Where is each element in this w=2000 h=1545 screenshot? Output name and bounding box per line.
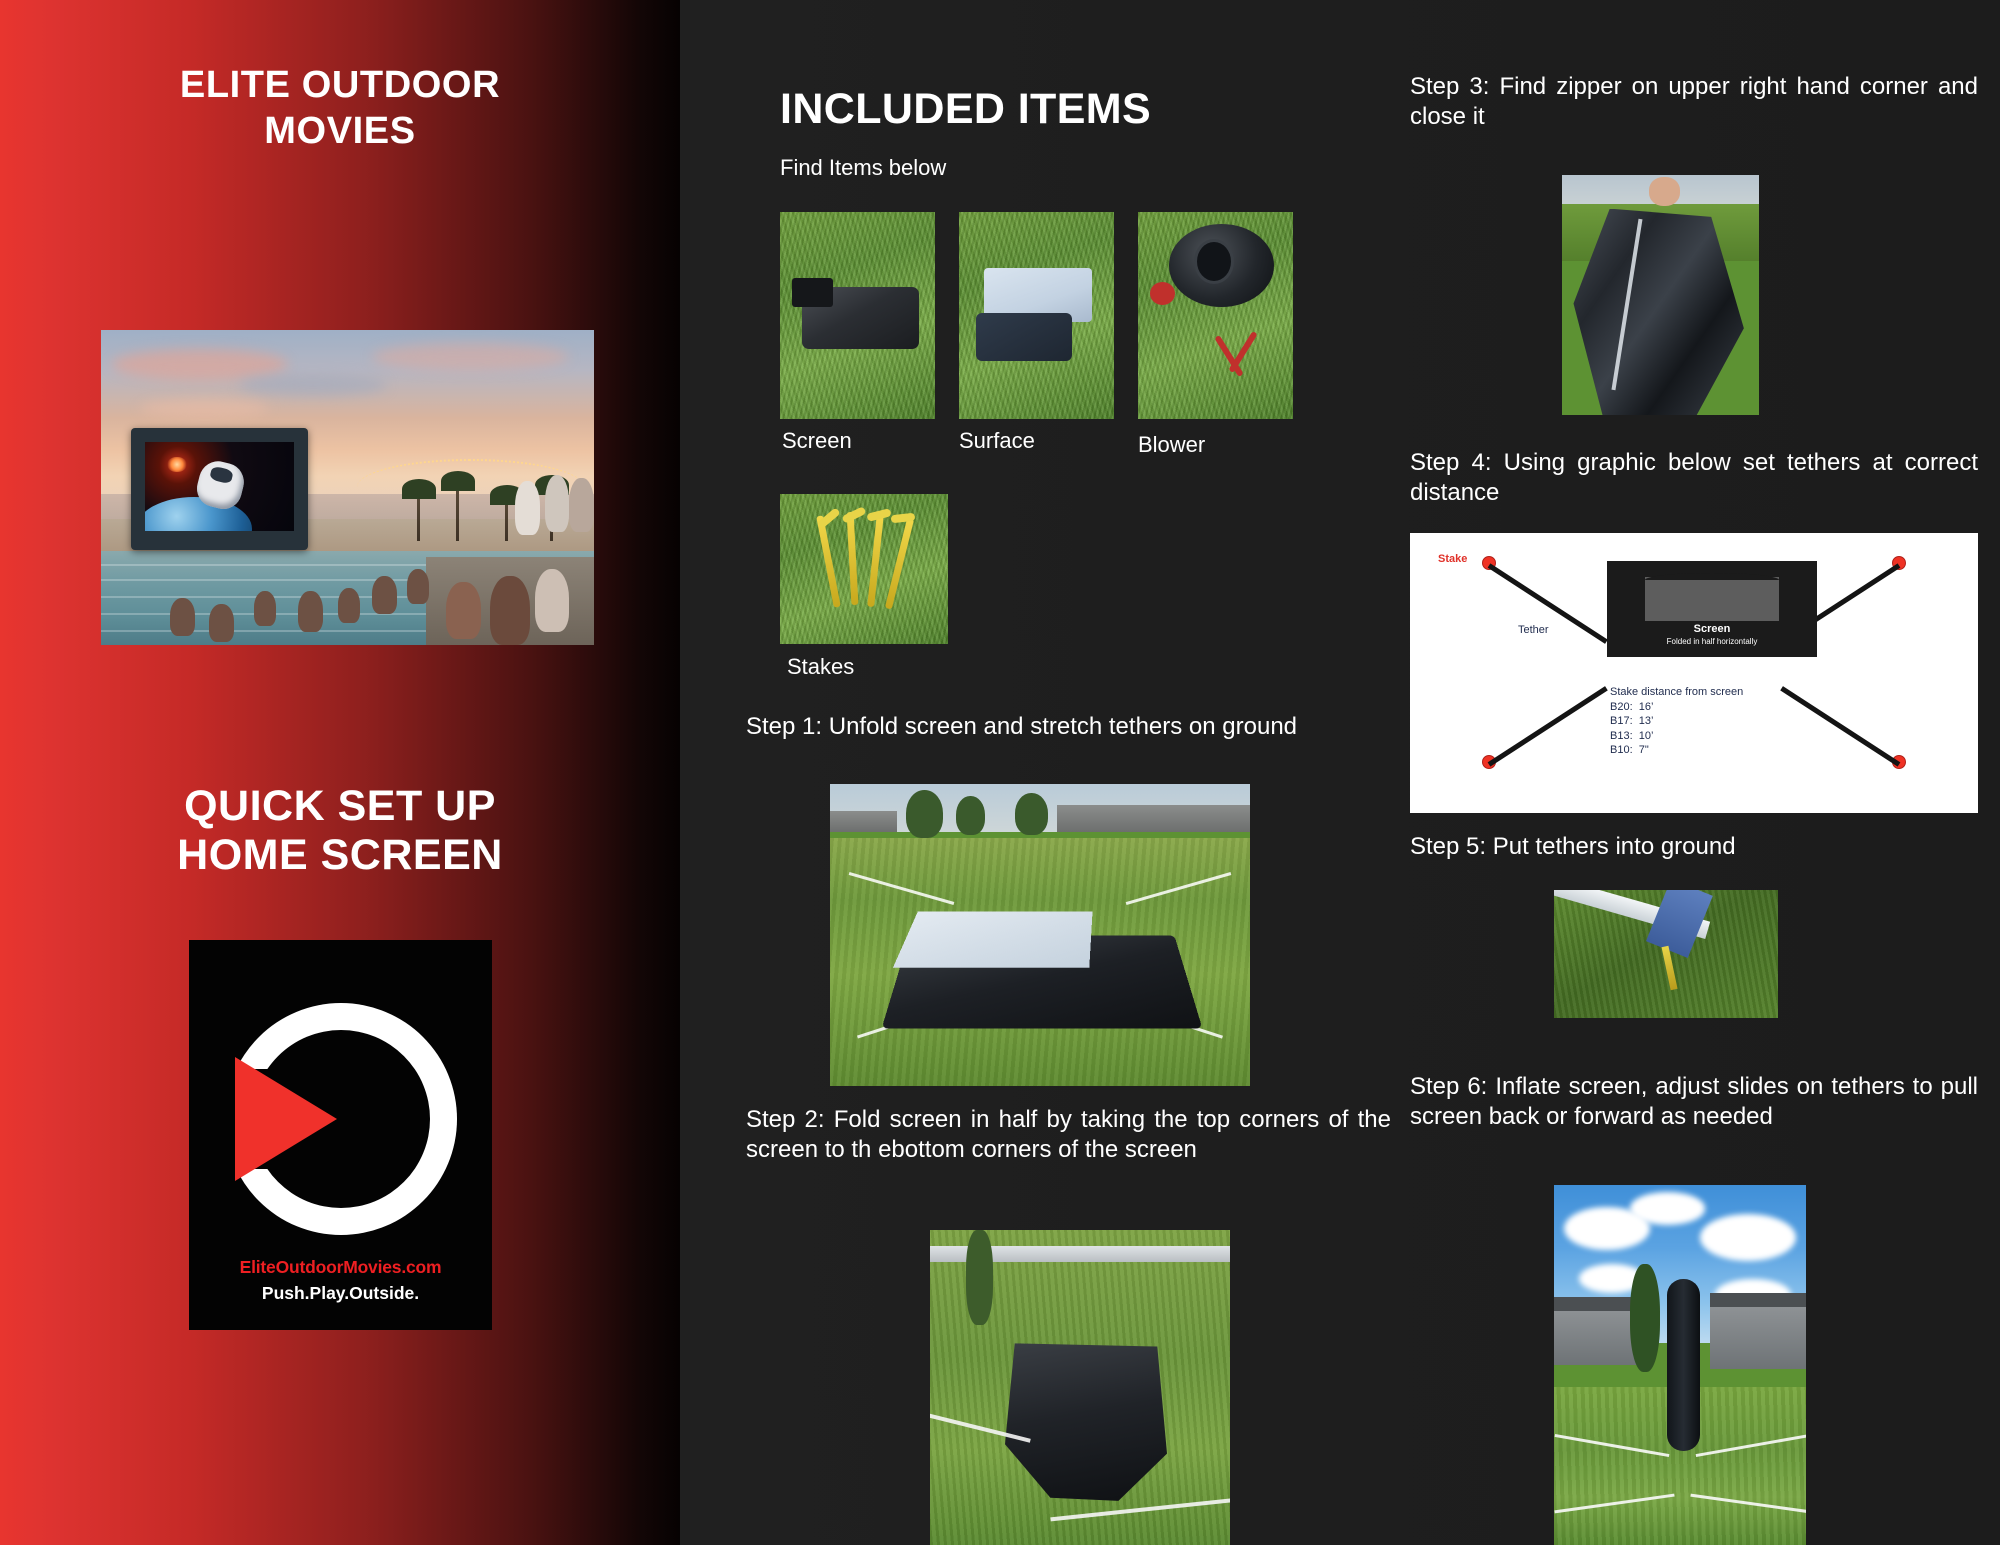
step-1-lead: Step 1: (746, 713, 822, 740)
diagram-screen-sublabel: Folded in half horizontally (1607, 637, 1817, 646)
step-2-lead: Step 2: (746, 1106, 825, 1133)
setup-instructions-page: ELITE OUTDOOR MOVIES (0, 0, 2000, 1545)
distance-value-b17: 13’ (1639, 715, 1654, 727)
step-1-text: Step 1: Unfold screen and stretch tether… (746, 712, 1391, 742)
item-label-screen: Screen (782, 428, 852, 454)
step-5-body: Put tethers into ground (1493, 833, 1736, 860)
hero-cloud (239, 374, 387, 396)
hero-cloud (372, 343, 569, 371)
hero-inflatable-screen (131, 428, 308, 551)
step-1-photo (830, 784, 1250, 1086)
step-4-body: Using graphic below set tethers at corre… (1410, 449, 1978, 506)
stakes-photo (780, 494, 948, 644)
brand-title: ELITE OUTDOOR MOVIES (0, 62, 680, 155)
distance-value-b13: 10’ (1639, 730, 1654, 742)
surface-dark-sheet (976, 313, 1072, 361)
brand-name-line2: MOVIES (264, 110, 415, 152)
distance-row-b17: B17: 13’ (1610, 714, 1743, 729)
distance-row-b10: B10: 7" (1610, 743, 1743, 758)
distance-row-b20: B20: 16’ (1610, 700, 1743, 715)
surface-sheet-photo (959, 212, 1114, 419)
step-3-text: Step 3: Find zipper on upper right hand … (1410, 72, 1978, 132)
step-1-body: Unfold screen and stretch tethers on gro… (829, 713, 1297, 740)
blower-photo (1138, 212, 1293, 419)
step-2-photo (930, 1230, 1230, 1545)
step-6-body: Inflate screen, adjust slides on tethers… (1410, 1073, 1978, 1130)
step-4-lead: Step 4: (1410, 449, 1492, 476)
step-4-text: Step 4: Using graphic below set tethers … (1410, 448, 1978, 508)
hero-cloud (140, 399, 268, 418)
logo-website-url: EliteOutdoorMovies.com (189, 1257, 492, 1278)
instructions-panel: INCLUDED ITEMS Find Items below Screen (680, 0, 2000, 1545)
diagram-screen-right-post (1779, 561, 1817, 581)
hero-screen-image (145, 442, 294, 530)
step-4-tether-distance-diagram: Screen Folded in half horizontally Stake… (1410, 533, 1978, 813)
item-screen: Screen (780, 212, 935, 419)
logo-tagline: Push.Play.Outside. (189, 1283, 492, 1304)
diagram-distance-table: Stake distance from screen B20: 16’ B17:… (1610, 685, 1743, 758)
distance-model-b13: B13: (1610, 730, 1633, 742)
step-6-text: Step 6: Inflate screen, adjust slides on… (1410, 1072, 1978, 1132)
page-title-line1: QUICK SET UP (184, 782, 496, 830)
step-6-photo (1554, 1185, 1806, 1545)
distance-table-title: Stake distance from screen (1610, 685, 1743, 700)
item-label-blower: Blower (1138, 432, 1205, 458)
step-3-body: Find zipper on upper right hand corner a… (1410, 73, 1978, 130)
diagram-screen-label: Screen (1607, 623, 1817, 635)
brand-panel: ELITE OUTDOOR MOVIES (0, 0, 680, 1545)
step-5-lead: Step 5: (1410, 833, 1486, 860)
included-items-gallery: Screen Surface (780, 212, 1390, 427)
item-stakes: Stakes (780, 494, 948, 644)
step-2-body: Fold screen in half by taking the top co… (746, 1106, 1391, 1163)
hero-photo-outdoor-movie-pool-party (101, 330, 594, 645)
tether-line-bottom-left (1488, 686, 1608, 766)
diagram-stake-label: Stake (1438, 553, 1467, 565)
step-2-text: Step 2: Fold screen in half by taking th… (746, 1105, 1391, 1165)
distance-value-b10: 7" (1639, 744, 1649, 756)
step-3-lead: Step 3: (1410, 73, 1489, 100)
included-items-heading: INCLUDED ITEMS (780, 85, 1151, 134)
find-items-subheading: Find Items below (780, 155, 946, 181)
brand-name-line1: ELITE OUTDOOR (180, 64, 500, 106)
distance-model-b20: B20: (1610, 701, 1633, 713)
screen-bag-photo (780, 212, 935, 419)
distance-model-b17: B17: (1610, 715, 1633, 727)
item-label-stakes: Stakes (787, 654, 854, 680)
diagram-tether-label: Tether (1518, 624, 1549, 636)
logo-play-circle-icon (225, 1003, 457, 1235)
step-6-lead: Step 6: (1410, 1073, 1487, 1100)
middle-column: INCLUDED ITEMS Find Items below Screen (730, 0, 1390, 1545)
diagram-screen-surface (1645, 577, 1779, 621)
diagram-screen-left-post (1607, 561, 1645, 581)
distance-row-b13: B13: 10’ (1610, 729, 1743, 744)
step-5-text: Step 5: Put tethers into ground (1410, 832, 1978, 862)
page-title: QUICK SET UP HOME SCREEN (0, 782, 680, 880)
right-column: Step 3: Find zipper on upper right hand … (1410, 0, 1990, 1545)
step-5-photo (1554, 890, 1778, 1018)
distance-model-b10: B10: (1610, 744, 1633, 756)
hero-screen-sun (167, 457, 186, 473)
screen-bag-strap (792, 278, 832, 307)
item-label-surface: Surface (959, 428, 1035, 454)
step-3-photo (1562, 175, 1759, 415)
item-blower: Blower (1138, 212, 1293, 419)
company-logo: EliteOutdoorMovies.com Push.Play.Outside… (189, 940, 492, 1330)
item-surface: Surface (959, 212, 1114, 419)
tether-line-bottom-right (1780, 686, 1900, 766)
distance-value-b20: 16’ (1639, 701, 1654, 713)
page-title-line2: HOME SCREEN (177, 831, 503, 879)
